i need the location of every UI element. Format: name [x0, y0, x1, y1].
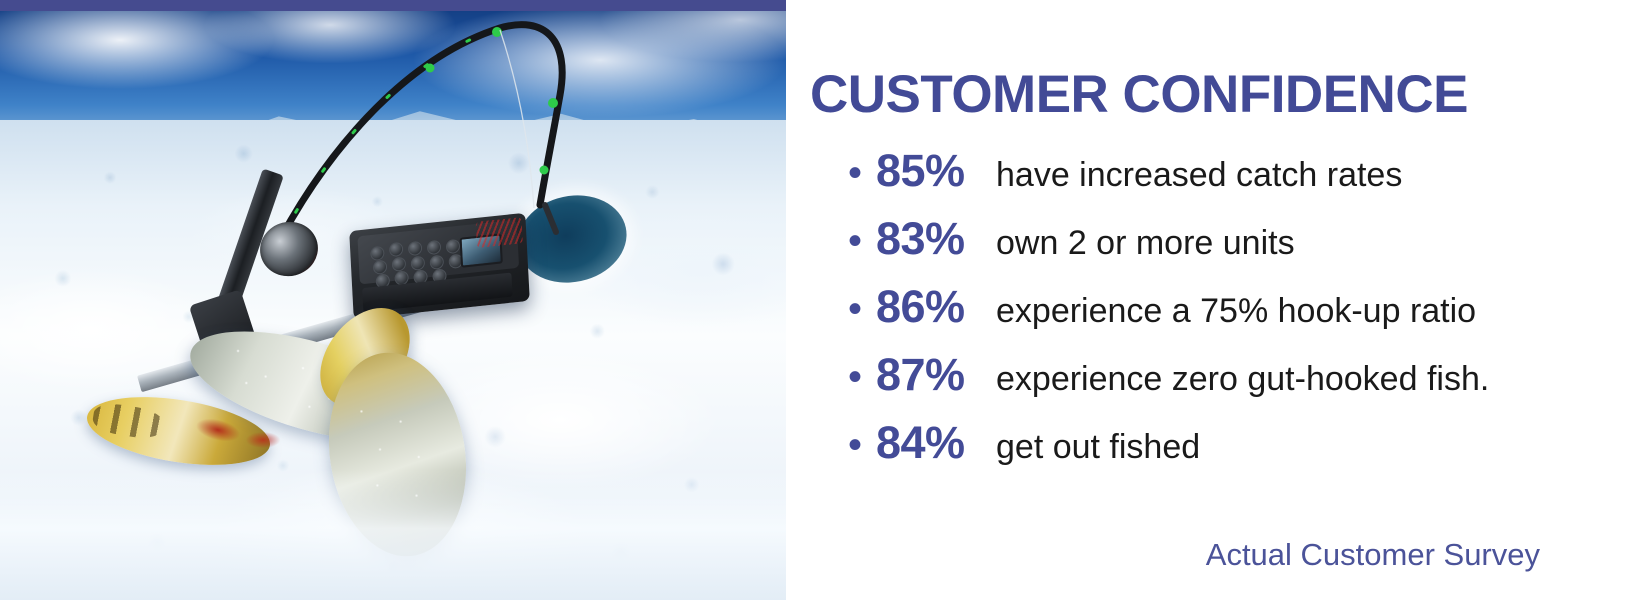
list-item: • 84% get out fished [848, 417, 1650, 485]
list-item: • 86% experience a 75% hook-up ratio [848, 281, 1650, 349]
list-item: • 85% have increased catch rates [848, 145, 1650, 213]
blood-spot-secondary [246, 432, 280, 448]
bullet-dot-icon: • [848, 357, 876, 397]
keypad-key [446, 239, 461, 254]
stat-percent: 83% [876, 213, 976, 265]
list-item: • 83% own 2 or more units [848, 213, 1650, 281]
stat-percent: 84% [876, 417, 976, 469]
keypad-key [370, 246, 385, 261]
ice-fishing-photo [0, 0, 786, 600]
stat-percent: 87% [876, 349, 976, 401]
keypad-key [389, 242, 404, 257]
source-caption: Actual Customer Survey [1206, 537, 1540, 573]
electronics-case [349, 213, 530, 320]
stat-description: have increased catch rates [976, 156, 1402, 195]
slide-root: CUSTOMER CONFIDENCE • 85% have increased… [0, 0, 1650, 600]
accent-top-bar [0, 0, 786, 11]
stat-description: experience zero gut-hooked fish. [976, 360, 1489, 399]
photo-panel [0, 0, 786, 600]
stat-percent: 85% [876, 145, 976, 197]
page-title: CUSTOMER CONFIDENCE [810, 68, 1468, 121]
list-item: • 87% experience zero gut-hooked fish. [848, 349, 1650, 417]
content-panel: CUSTOMER CONFIDENCE • 85% have increased… [786, 0, 1650, 600]
stat-description: own 2 or more units [976, 224, 1295, 263]
case-red-highlight [476, 217, 523, 248]
statistics-list: • 85% have increased catch rates • 83% o… [848, 145, 1650, 485]
keypad-key [392, 257, 407, 272]
keypad-key [373, 259, 388, 274]
snow-foreground [0, 470, 786, 600]
bullet-dot-icon: • [848, 289, 876, 329]
stat-percent: 86% [876, 281, 976, 333]
bullet-dot-icon: • [848, 153, 876, 193]
keypad-key [411, 256, 426, 271]
keypad-key [427, 240, 442, 255]
stat-description: get out fished [976, 428, 1200, 467]
keypad-key [408, 241, 423, 256]
stat-description: experience a 75% hook-up ratio [976, 292, 1476, 331]
bullet-dot-icon: • [848, 425, 876, 465]
bullet-dot-icon: • [848, 221, 876, 261]
keypad-key [429, 255, 444, 270]
